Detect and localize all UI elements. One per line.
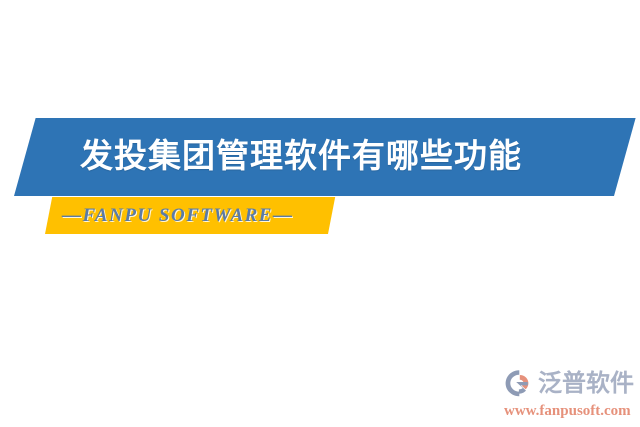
logo-wordmark-text: 泛普软件 (538, 367, 634, 399)
logo-wordmark-row: 泛普软件 (503, 366, 640, 400)
page-title: 发投集团管理软件有哪些功能 (80, 131, 600, 181)
brand-logo: 泛普软件 www.fanpusoft.com (503, 366, 640, 422)
banner-subtitle: —FANPU SOFTWARE— (62, 203, 332, 229)
fanpu-swirl-logo-icon (503, 367, 535, 399)
logo-website-url: www.fanpusoft.com (504, 401, 640, 421)
title-banner: 发投集团管理软件有哪些功能 —FANPU SOFTWARE— (0, 0, 640, 260)
slide-canvas: 发投集团管理软件有哪些功能 —FANPU SOFTWARE— 泛普软件 www.… (0, 0, 640, 427)
